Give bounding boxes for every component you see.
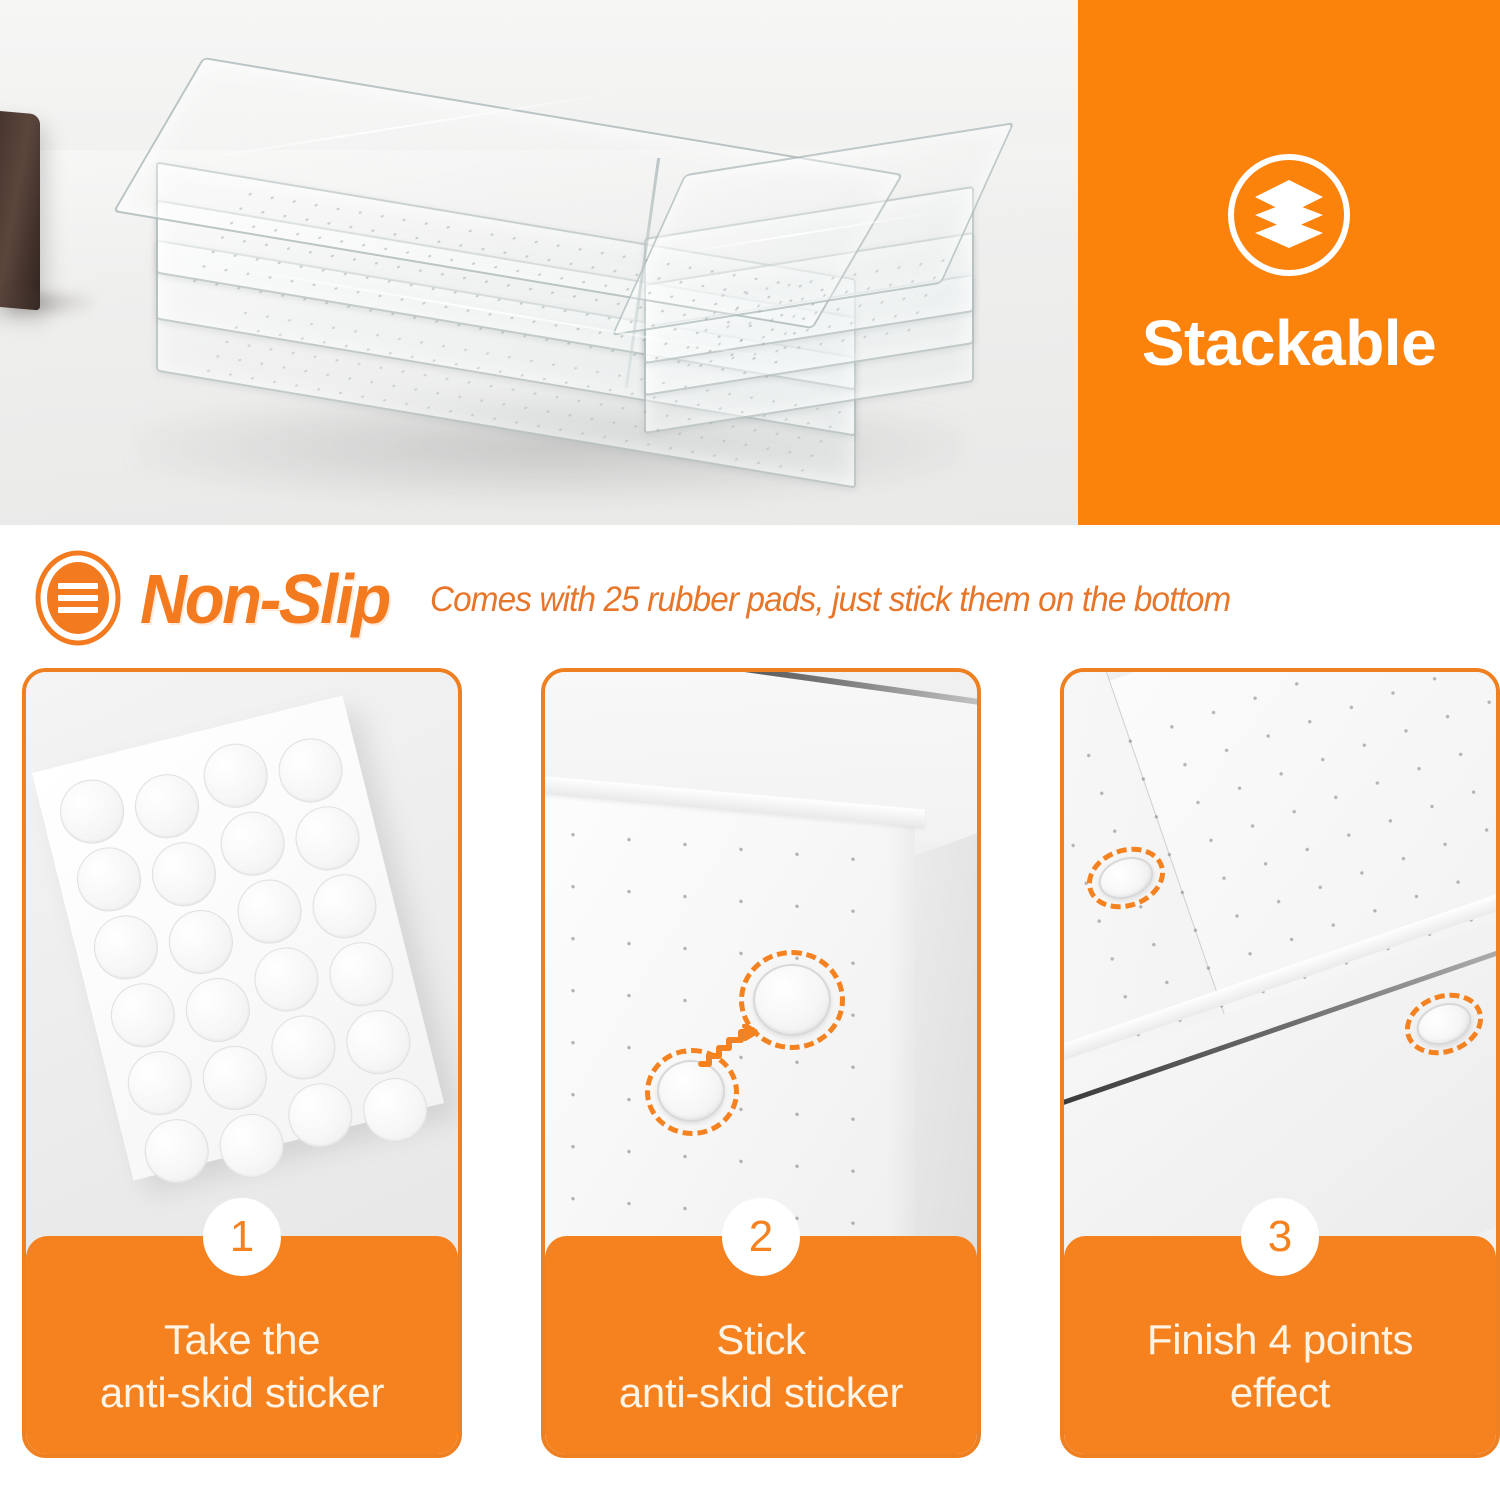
step-caption-bar: 3 Finish 4 points effect (1064, 1236, 1496, 1454)
rubber-pad (138, 1112, 216, 1190)
step-caption-bar: 2 Stick anti-skid sticker (545, 1236, 977, 1454)
rubber-pad (272, 732, 350, 810)
non-slip-icon (34, 548, 122, 653)
rubber-pad (248, 941, 326, 1019)
clear-tray-stack (96, 62, 996, 492)
sticker-sheet-photo (26, 672, 458, 1272)
rubber-pad (70, 841, 148, 919)
stackable-title: Stackable (1142, 311, 1436, 375)
step-number-badge: 1 (203, 1198, 281, 1276)
sticking-pad-photo (545, 672, 977, 1272)
dark-object-shadow (8, 292, 94, 318)
non-slip-header: Non-Slip Comes with 25 rubber pads, just… (0, 540, 1500, 658)
step-card-3[interactable]: 3 Finish 4 points effect (1060, 668, 1500, 1458)
rubber-pad (340, 1003, 418, 1081)
zigzag-arrow-icon (697, 1024, 761, 1079)
stackable-panel: Stackable (1078, 0, 1500, 525)
rubber-pad (128, 767, 206, 845)
rubber-pad (214, 805, 292, 883)
rubber-pad (196, 1039, 274, 1117)
finished-tray-bottom-photo (1064, 672, 1496, 1272)
rubber-pad (289, 800, 367, 878)
step-card-2[interactable]: 2 Stick anti-skid sticker (541, 668, 981, 1458)
rubber-pad (282, 1077, 360, 1155)
hero-product-photo (0, 0, 1078, 525)
rubber-pad (87, 909, 165, 987)
infographic-page: Stackable Non-Slip Comes with 25 rubber … (0, 0, 1500, 1487)
rubber-pad (323, 935, 401, 1013)
step-caption-bar: 1 Take the anti-skid sticker (26, 1236, 458, 1454)
dark-furniture-object (0, 110, 40, 311)
rubber-pad (145, 835, 223, 913)
rubber-pad (53, 773, 131, 851)
rubber-pad (197, 737, 275, 815)
rubber-pad (104, 977, 182, 1055)
rubber-pad (231, 873, 309, 951)
step-caption-text: Stick anti-skid sticker (545, 1314, 977, 1420)
layers-icon (1224, 150, 1354, 285)
non-slip-title: Non-Slip (140, 564, 389, 634)
steps-row: 1 Take the anti-skid sticker (0, 668, 1500, 1468)
rubber-pad (265, 1009, 343, 1087)
step-number-badge: 3 (1241, 1198, 1319, 1276)
step-caption-text: Take the anti-skid sticker (26, 1314, 458, 1420)
rubber-pad (179, 971, 257, 1049)
step-caption-text: Finish 4 points effect (1064, 1314, 1496, 1420)
rubber-pad (306, 868, 384, 946)
step-number-badge: 2 (722, 1198, 800, 1276)
rubber-pad (162, 903, 240, 981)
non-slip-subtitle: Comes with 25 rubber pads, just stick th… (430, 582, 1230, 617)
step-card-1[interactable]: 1 Take the anti-skid sticker (22, 668, 462, 1458)
rubber-pad (121, 1044, 199, 1122)
